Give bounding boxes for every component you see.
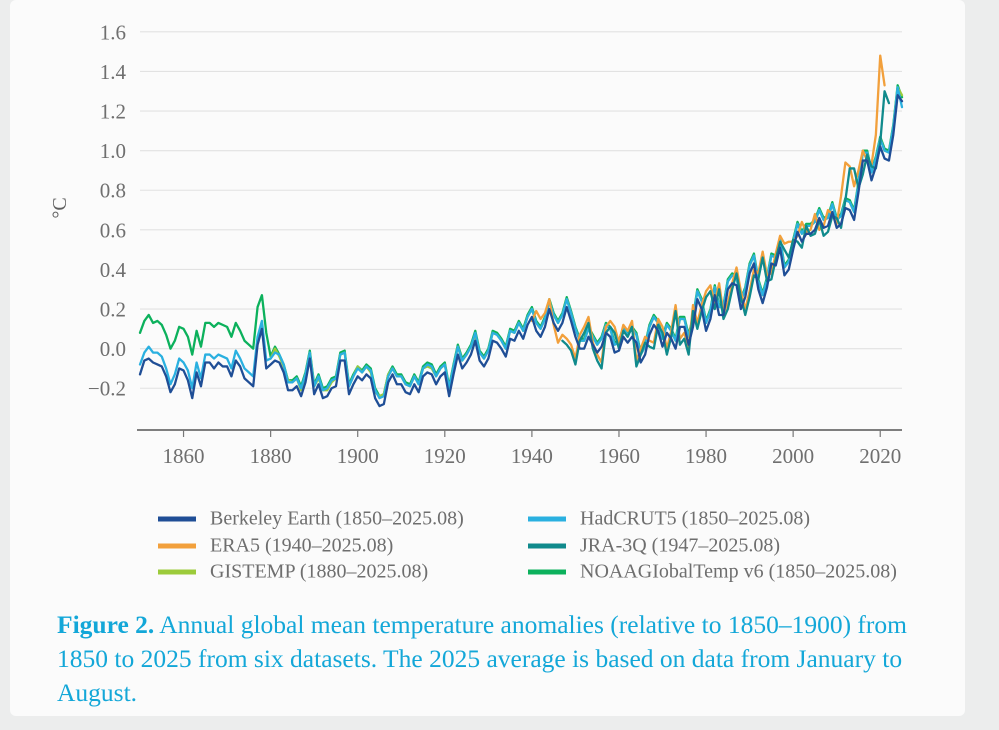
x-tick-label: 1880: [250, 444, 292, 468]
figure-caption-label: Figure 2.: [57, 610, 154, 639]
legend-item[interactable]: HadCRUT5 (1850–2025.08): [528, 508, 810, 530]
x-tick-label: 1860: [163, 444, 205, 468]
legend-label: HadCRUT5 (1850–2025.08): [580, 508, 810, 530]
y-tick-label: 0.0: [100, 337, 126, 361]
legend-group: Berkeley Earth (1850–2025.08)ERA5 (1940–…: [158, 508, 897, 583]
legend-label: Berkeley Earth (1850–2025.08): [210, 508, 464, 530]
legend-label: JRA-3Q (1947–2025.08): [580, 535, 780, 557]
legend-label: GISTEMP (1880–2025.08): [210, 561, 428, 583]
legend-item[interactable]: ERA5 (1940–2025.08): [158, 535, 393, 557]
x-tick-label: 1920: [424, 444, 466, 468]
legend-label: ERA5 (1940–2025.08): [210, 535, 393, 557]
y-tick-label: 1.0: [100, 139, 126, 163]
figure-caption-text: Annual global mean temperature anomalies…: [57, 610, 907, 707]
figure-card: −0.20.00.20.40.60.81.01.21.41.6 18601880…: [10, 0, 965, 716]
x-tick-label: 2020: [859, 444, 901, 468]
series-line-gistemp: [271, 87, 902, 396]
series-lines-group: [140, 56, 902, 406]
series-line-noaagiobaltemp-v6: [140, 85, 902, 396]
y-axis-title: °C: [49, 197, 71, 218]
figure-page: −0.20.00.20.40.60.81.01.21.41.6 18601880…: [0, 0, 999, 730]
legend-item[interactable]: Berkeley Earth (1850–2025.08): [158, 508, 464, 530]
y-tick-label: 0.4: [100, 258, 127, 282]
y-tick-label: 1.2: [100, 100, 126, 124]
y-tick-label: −0.2: [88, 377, 126, 401]
x-tick-label: 2000: [772, 444, 814, 468]
x-tick-labels-group: 186018801900192019401960198020002020: [163, 444, 902, 468]
legend-item[interactable]: JRA-3Q (1947–2025.08): [528, 535, 780, 557]
x-tick-label: 1980: [685, 444, 727, 468]
x-tick-label: 1900: [337, 444, 379, 468]
y-tick-label: 0.2: [100, 298, 126, 322]
x-axis-group: [137, 430, 902, 437]
x-tick-label: 1960: [598, 444, 640, 468]
x-tick-label: 1940: [511, 444, 553, 468]
legend-item[interactable]: NOAAGIobalTemp v6 (1850–2025.08): [528, 561, 897, 583]
y-tick-label: 1.4: [100, 60, 127, 84]
y-tick-labels-group: −0.20.00.20.40.60.81.01.21.41.6: [88, 20, 127, 400]
y-tick-label: 1.6: [100, 20, 126, 44]
y-tick-label: 0.8: [100, 179, 126, 203]
legend-label: NOAAGIobalTemp v6 (1850–2025.08): [580, 561, 897, 583]
legend-item[interactable]: GISTEMP (1880–2025.08): [158, 561, 428, 583]
chart-container: −0.20.00.20.40.60.81.01.21.41.6 18601880…: [10, 0, 965, 600]
y-tick-label: 0.6: [100, 218, 126, 242]
temperature-anomaly-chart: −0.20.00.20.40.60.81.01.21.41.6 18601880…: [10, 0, 965, 600]
figure-caption: Figure 2. Annual global mean temperature…: [57, 608, 922, 710]
